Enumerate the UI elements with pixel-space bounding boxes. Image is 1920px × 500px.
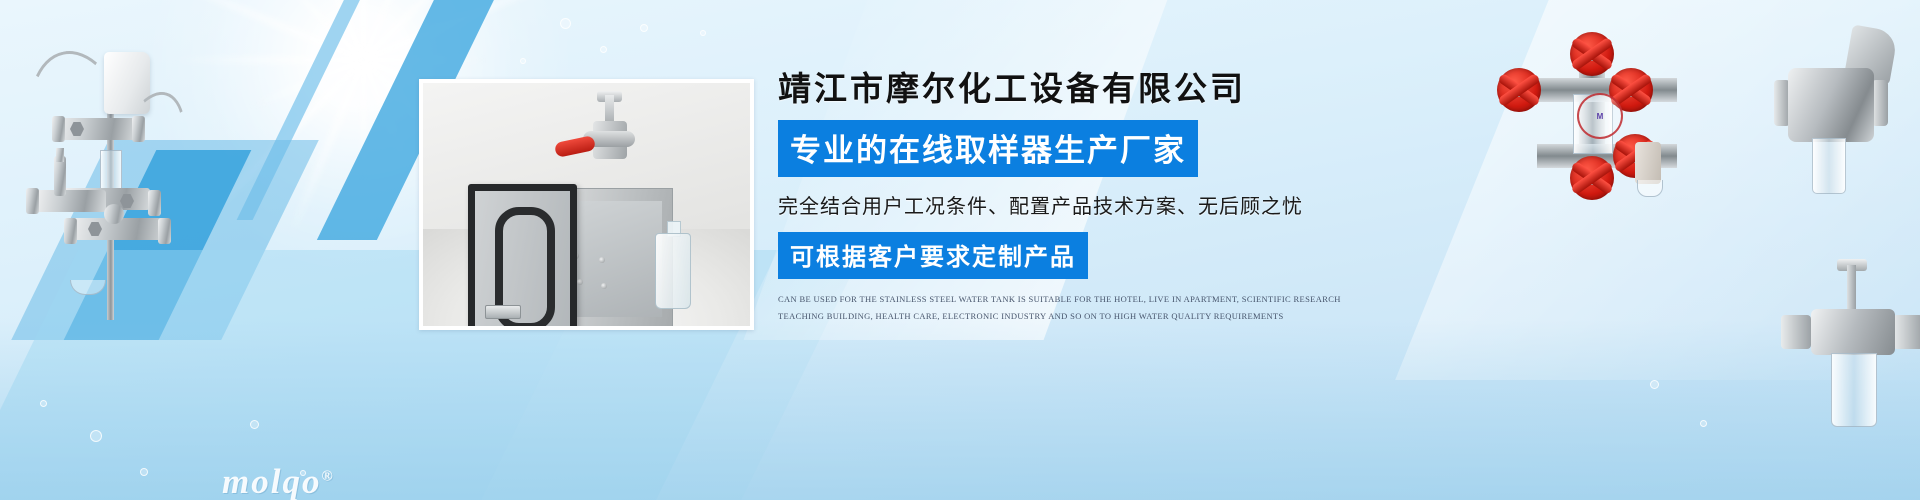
sun-ray [360,60,367,180]
bubble [700,30,706,36]
sun-ray [288,59,367,237]
flange-f [64,218,77,244]
bubble [600,46,607,53]
bottom-valve-stem [1847,265,1856,313]
sun-ray [361,0,500,62]
flange-e [158,218,171,244]
product-photo[interactable] [419,79,754,330]
lever-valve-sight-tube [1812,138,1846,194]
sun-ray [360,0,367,60]
right-bottom-valve-illustration [1775,265,1920,465]
banner-text-block: 靖江市摩尔化工设备有限公司 专业的在线取样器生产厂家 完全结合用户工况条件、配置… [778,72,1398,325]
bubble [1700,420,1707,427]
bubble [1650,380,1659,389]
cabinet-bolt-group [573,253,613,293]
bottom-valve-sight-glass [1831,353,1877,427]
watermark-text: molqo [222,462,321,500]
flange-c [26,188,39,214]
bottom-valve-wing-right [1893,315,1920,349]
sun-ray [276,0,366,62]
cross-bottle-holder [1635,142,1661,184]
handwheel-left [1497,68,1541,112]
sun-ray [177,58,366,247]
handwheel-top [1570,32,1614,76]
bolt-2 [599,257,605,263]
sun-ray [288,0,367,61]
secondary-badge: 可根据客户要求定制产品 [778,232,1088,279]
sun-ray [174,57,364,64]
company-seal-icon: M [1577,93,1623,139]
sun-ray [364,57,484,64]
bubble [250,420,259,429]
top-sampling-valve [583,95,635,173]
cross-sample-beaker [1637,180,1663,197]
promo-banner: M 靖江市摩尔化工设备有限公司 专业的在线取样器生产厂家 完全结合用户工况条件、… [0,0,1920,500]
bottom-valve-wing-left [1781,315,1811,349]
watermark-logo: molqo® [222,462,335,500]
company-name: 靖江市摩尔化工设备有限公司 [778,72,1398,108]
english-description: CAN BE USED FOR THE STAINLESS STEEL WATE… [778,291,1386,325]
sample-beaker [70,280,106,295]
bottom-valve-body [1811,309,1895,355]
bubble [640,24,648,32]
lever-valve-flange-right [1872,80,1888,126]
bubble [140,468,148,476]
cabinet-door [468,184,577,326]
bubble [40,400,47,407]
sub-headline: 完全结合用户工况条件、配置产品技术方案、无后顾之忧 [778,190,1398,219]
sun-ray [360,59,412,173]
bubble [520,58,526,64]
bolt-3 [577,279,583,285]
sun-ray [251,57,365,109]
sample-bottle [655,233,691,309]
handwheel-bottom [1570,156,1614,200]
right-lever-valve-illustration [1760,30,1910,210]
sun-ray [360,0,412,61]
bubble [90,430,102,442]
door-latch [485,305,521,319]
lever-valve-body [1788,68,1874,142]
headline-badge: 专业的在线取样器生产厂家 [778,120,1198,177]
registered-mark-icon: ® [321,468,334,484]
bolt-4 [601,283,607,289]
bubble [560,18,571,29]
sun-ray [362,0,605,63]
diagonal-stripe-2 [237,0,380,220]
left-product-illustration [8,22,168,312]
product-photo-inner [423,83,750,326]
